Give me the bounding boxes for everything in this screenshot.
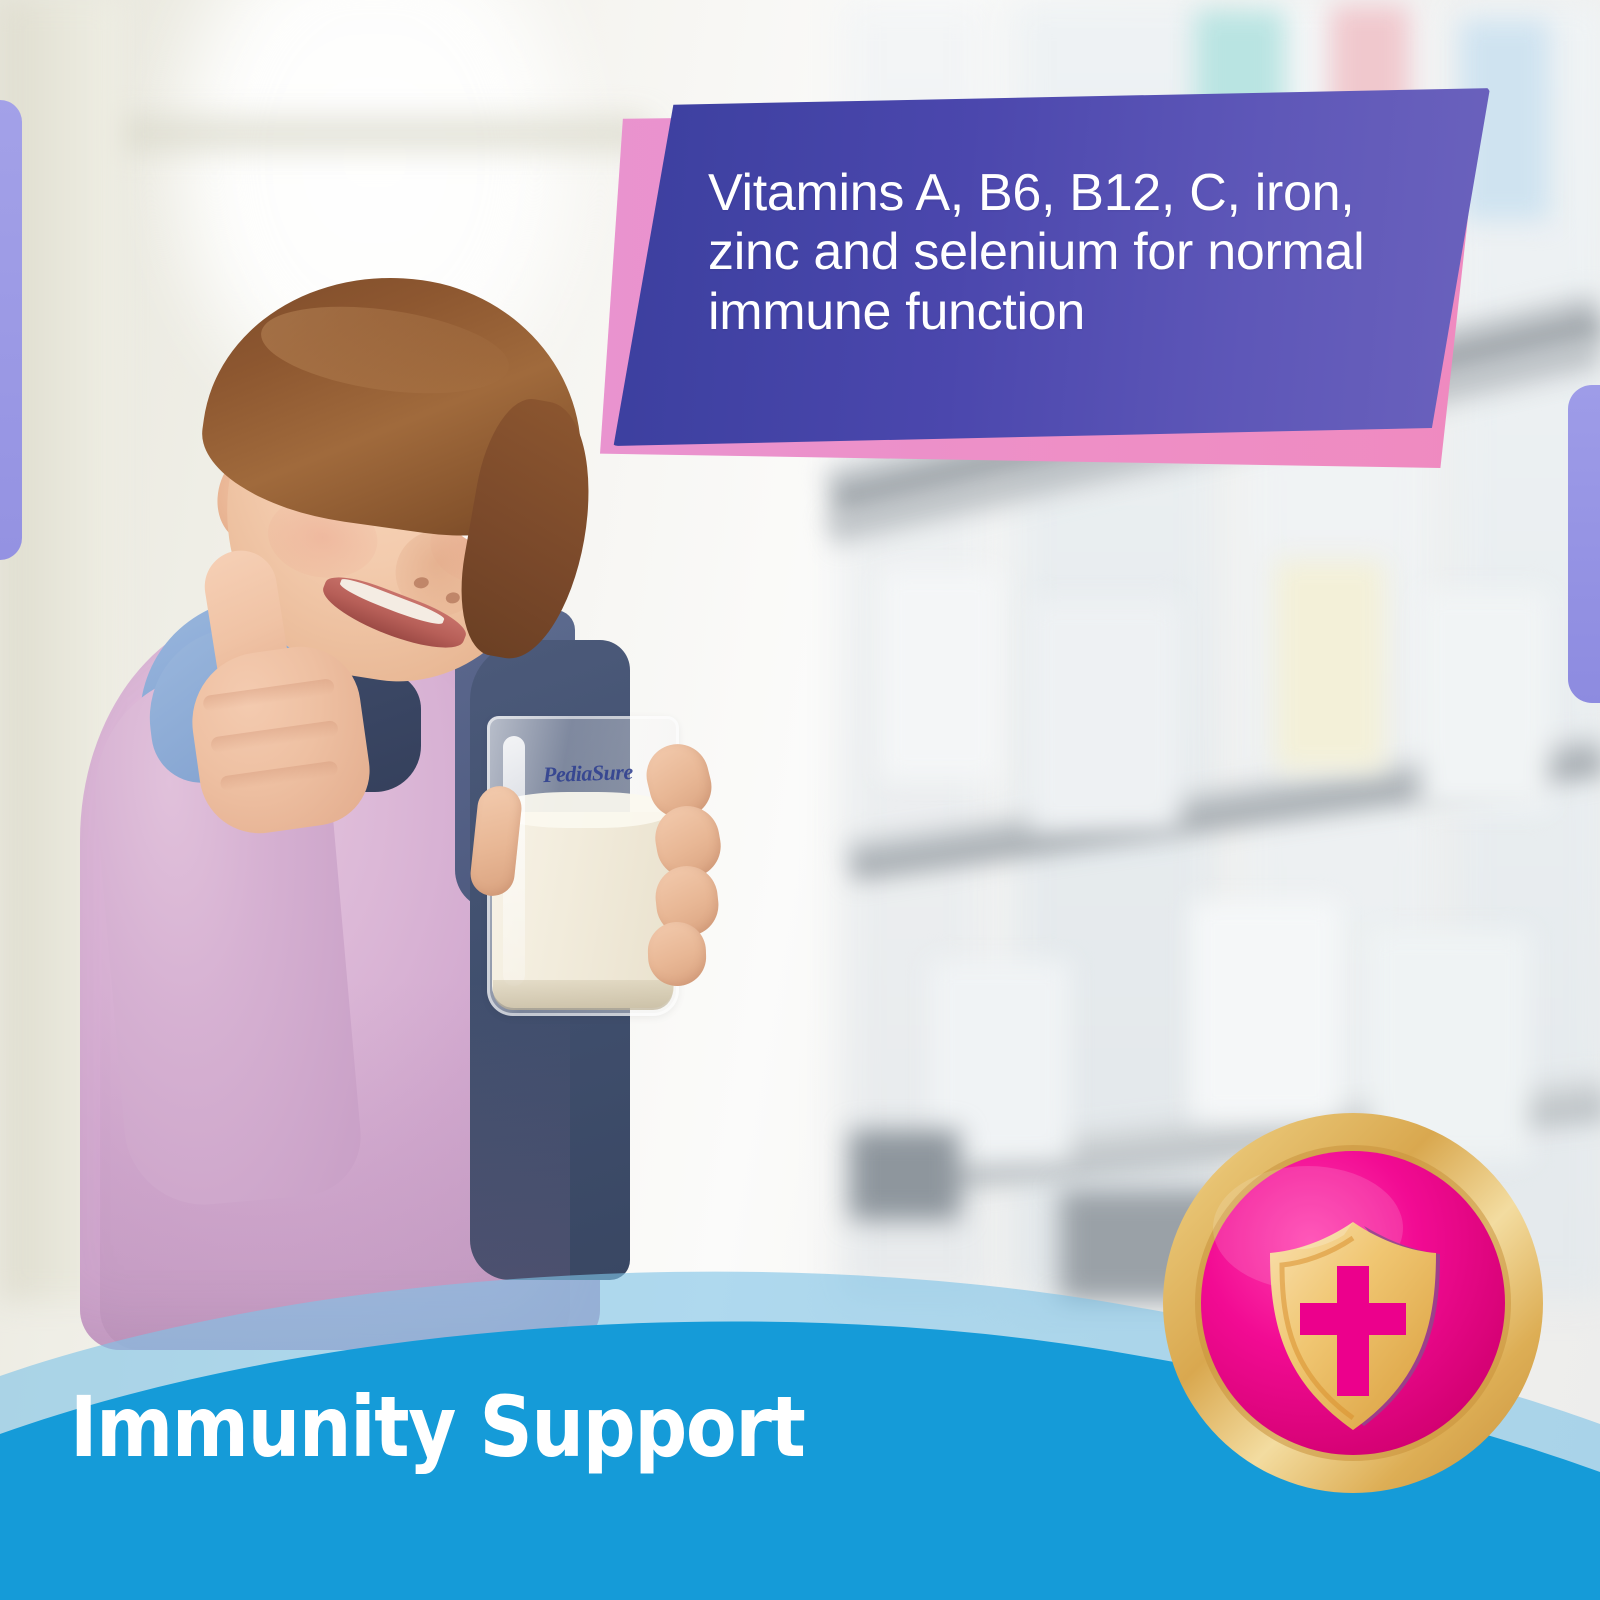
shelf-product-white-2 [1030,600,1180,830]
shelf-product-yellow [1275,560,1385,770]
glass-base [493,980,673,1010]
decor-pill-left [0,100,22,560]
knuckle-1 [202,678,335,712]
knuckle-2 [210,720,339,754]
headline-banner: Vitamins A, B6, B12, C, iron, zinc and s… [600,86,1500,466]
knuckle-3 [220,760,339,791]
immunity-shield-badge[interactable] [1158,1108,1548,1498]
footer-title: Immunity Support [70,1385,805,1469]
decor-pill-right [1568,385,1600,703]
cross-horizontal [1300,1303,1406,1335]
window-frame [110,120,650,148]
pediasure-logo: PediaSure [543,758,664,788]
shelf-product-white-3 [1420,590,1550,810]
shelf-product-white-1 [880,570,1000,780]
banner-headline: Vitamins A, B6, B12, C, iron, zinc and s… [708,164,1448,342]
shelf-product-box-1 [1190,900,1340,1120]
promo-banner-canvas: PediaSure Vitamins A, B6, B12, C, iron, … [0,0,1600,1600]
